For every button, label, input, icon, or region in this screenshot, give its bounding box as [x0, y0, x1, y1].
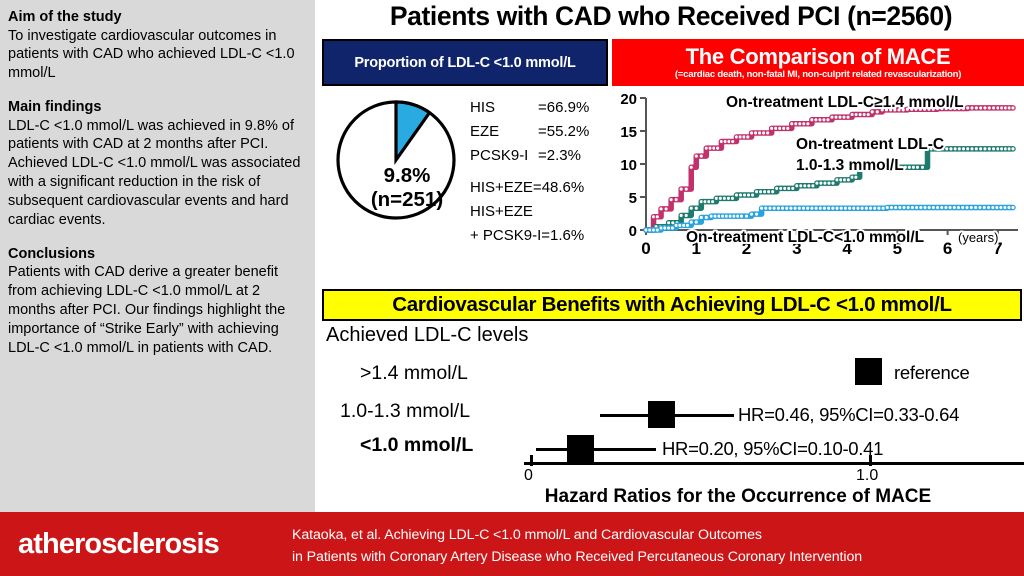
kaplan-meier-svg: 0510152001234567 On-treatment LDL-C≥1.4 … [608, 90, 1024, 285]
forest-row-label-gt14: >1.4 mmol/L [360, 362, 468, 385]
benefits-banner-title: Cardiovascular Benefits with Achieving L… [392, 293, 951, 317]
citation-line-2: in Patients with Coronary Artery Disease… [292, 546, 862, 568]
svg-text:6: 6 [943, 239, 952, 258]
forest-row-label-lt10: <1.0 mmol/L [360, 434, 473, 457]
svg-text:0: 0 [641, 239, 650, 258]
km-annotation-high: On-treatment LDL-C≥1.4 mmol/L [726, 94, 964, 111]
sidebar-spacer [8, 83, 305, 98]
sidebar-section-heading-conclusions: Conclusions [8, 245, 305, 264]
forest-axis-tick-1 [869, 455, 872, 466]
proportion-pie-panel: 9.8% (n=251) HIS =66.9% EZE =55.2% PCSK9… [322, 90, 608, 285]
page-title: Patients with CAD who Received PCI (n=25… [318, 0, 1024, 34]
journal-footer: atherosclerosis Kataoka, et al. Achievin… [0, 512, 1024, 576]
stat-row: EZE =55.2% [470, 119, 608, 143]
journal-logo: atherosclerosis [18, 528, 219, 561]
stat-spacer [470, 167, 608, 176]
benefits-banner: Cardiovascular Benefits with Achieving L… [322, 289, 1022, 321]
stat-value: =66.9% [538, 100, 589, 115]
stat-key: PCSK9-I [470, 148, 538, 163]
forest-plot-heading: Achieved LDL-C levels [326, 324, 528, 347]
stat-value: =55.2% [538, 124, 589, 139]
forest-axis-label: Hazard Ratios for the Occurrence of MACE [508, 486, 968, 508]
forest-marker-10-13 [648, 401, 675, 428]
km-x-unit-label: (years) [958, 230, 998, 245]
pie-chart: 9.8% (n=251) [334, 98, 458, 222]
pie-center-label: 9.8% (n=251) [342, 164, 472, 212]
svg-text:15: 15 [620, 124, 637, 141]
summary-sidebar: Aim of the study To investigate cardiova… [0, 0, 315, 512]
stat-row: HIS =66.9% [470, 95, 608, 119]
forest-row-text-lt10: HR=0.20, 95%CI=0.10-0.41 [662, 438, 883, 460]
mace-header-subtitle: (=cardiac death, non-fatal MI, non-culpr… [675, 69, 961, 81]
svg-text:0: 0 [629, 223, 637, 240]
proportion-header-title: Proportion of LDL-C <1.0 mmol/L [354, 55, 575, 71]
sidebar-section-body-conclusions: Patients with CAD derive a greater benef… [8, 263, 305, 357]
forest-row-text-gt14: reference [894, 362, 969, 384]
stat-row: PCSK9-I =2.3% [470, 143, 608, 167]
forest-row-text-10-13: HR=0.46, 95%CI=0.33-0.64 [738, 404, 959, 426]
proportion-header-banner: Proportion of LDL-C <1.0 mmol/L [322, 39, 608, 86]
svg-text:20: 20 [620, 91, 637, 108]
sidebar-section-body-aim: To investigate cardiovascular outcomes i… [8, 27, 305, 84]
forest-marker-lt10 [567, 435, 594, 462]
citation-block: Kataoka, et al. Achieving LDL-C <1.0 mmo… [292, 524, 862, 568]
forest-plot: Achieved LDL-C levels >1.4 mmol/L refere… [318, 322, 1024, 510]
lipid-therapy-stats-list: HIS =66.9% EZE =55.2% PCSK9-I =2.3% HIS+… [470, 95, 608, 248]
kaplan-meier-chart: 0510152001234567 On-treatment LDL-C≥1.4 … [608, 90, 1024, 285]
stat-value: =2.3% [538, 148, 581, 163]
forest-axis-ticklabel-1: 1.0 [856, 467, 878, 485]
forest-ci-line-lt10 [536, 448, 656, 451]
km-annotation-mid-line1: On-treatment LDL-C [796, 136, 944, 153]
forest-marker-reference [855, 358, 882, 385]
svg-text:5: 5 [629, 190, 637, 207]
stat-key: EZE [470, 124, 538, 139]
pie-count-value: (n=251) [342, 188, 472, 212]
km-annotation-mid-line2: 1.0-1.3 mmol/L [796, 157, 904, 174]
stat-row: HIS+EZE [470, 200, 608, 224]
forest-axis-ticklabel-0: 0 [524, 467, 533, 485]
sidebar-section-heading-aim: Aim of the study [8, 8, 305, 27]
km-annotation-low: On-treatment LDL-C<1.0 mmol/L [686, 229, 924, 246]
stat-key: HIS [470, 100, 538, 115]
forest-axis-line [524, 462, 1024, 465]
stat-row: HIS+EZE=48.6% [470, 176, 608, 200]
mace-header-banner: The Comparison of MACE (=cardiac death, … [612, 39, 1024, 86]
sidebar-section-body-findings: LDL-C <1.0 mmol/L was achieved in 9.8% o… [8, 117, 305, 230]
mace-header-title: The Comparison of MACE [686, 45, 951, 69]
svg-text:10: 10 [620, 157, 637, 174]
sidebar-section-heading-findings: Main findings [8, 98, 305, 117]
citation-line-1: Kataoka, et al. Achieving LDL-C <1.0 mmo… [292, 524, 862, 546]
forest-row-label-10-13: 1.0-1.3 mmol/L [340, 400, 470, 423]
pie-percent-value: 9.8% [342, 164, 472, 188]
stat-row: + PCSK9-I=1.6% [470, 224, 608, 248]
sidebar-spacer [8, 230, 305, 245]
forest-axis-tick-0 [530, 455, 533, 466]
